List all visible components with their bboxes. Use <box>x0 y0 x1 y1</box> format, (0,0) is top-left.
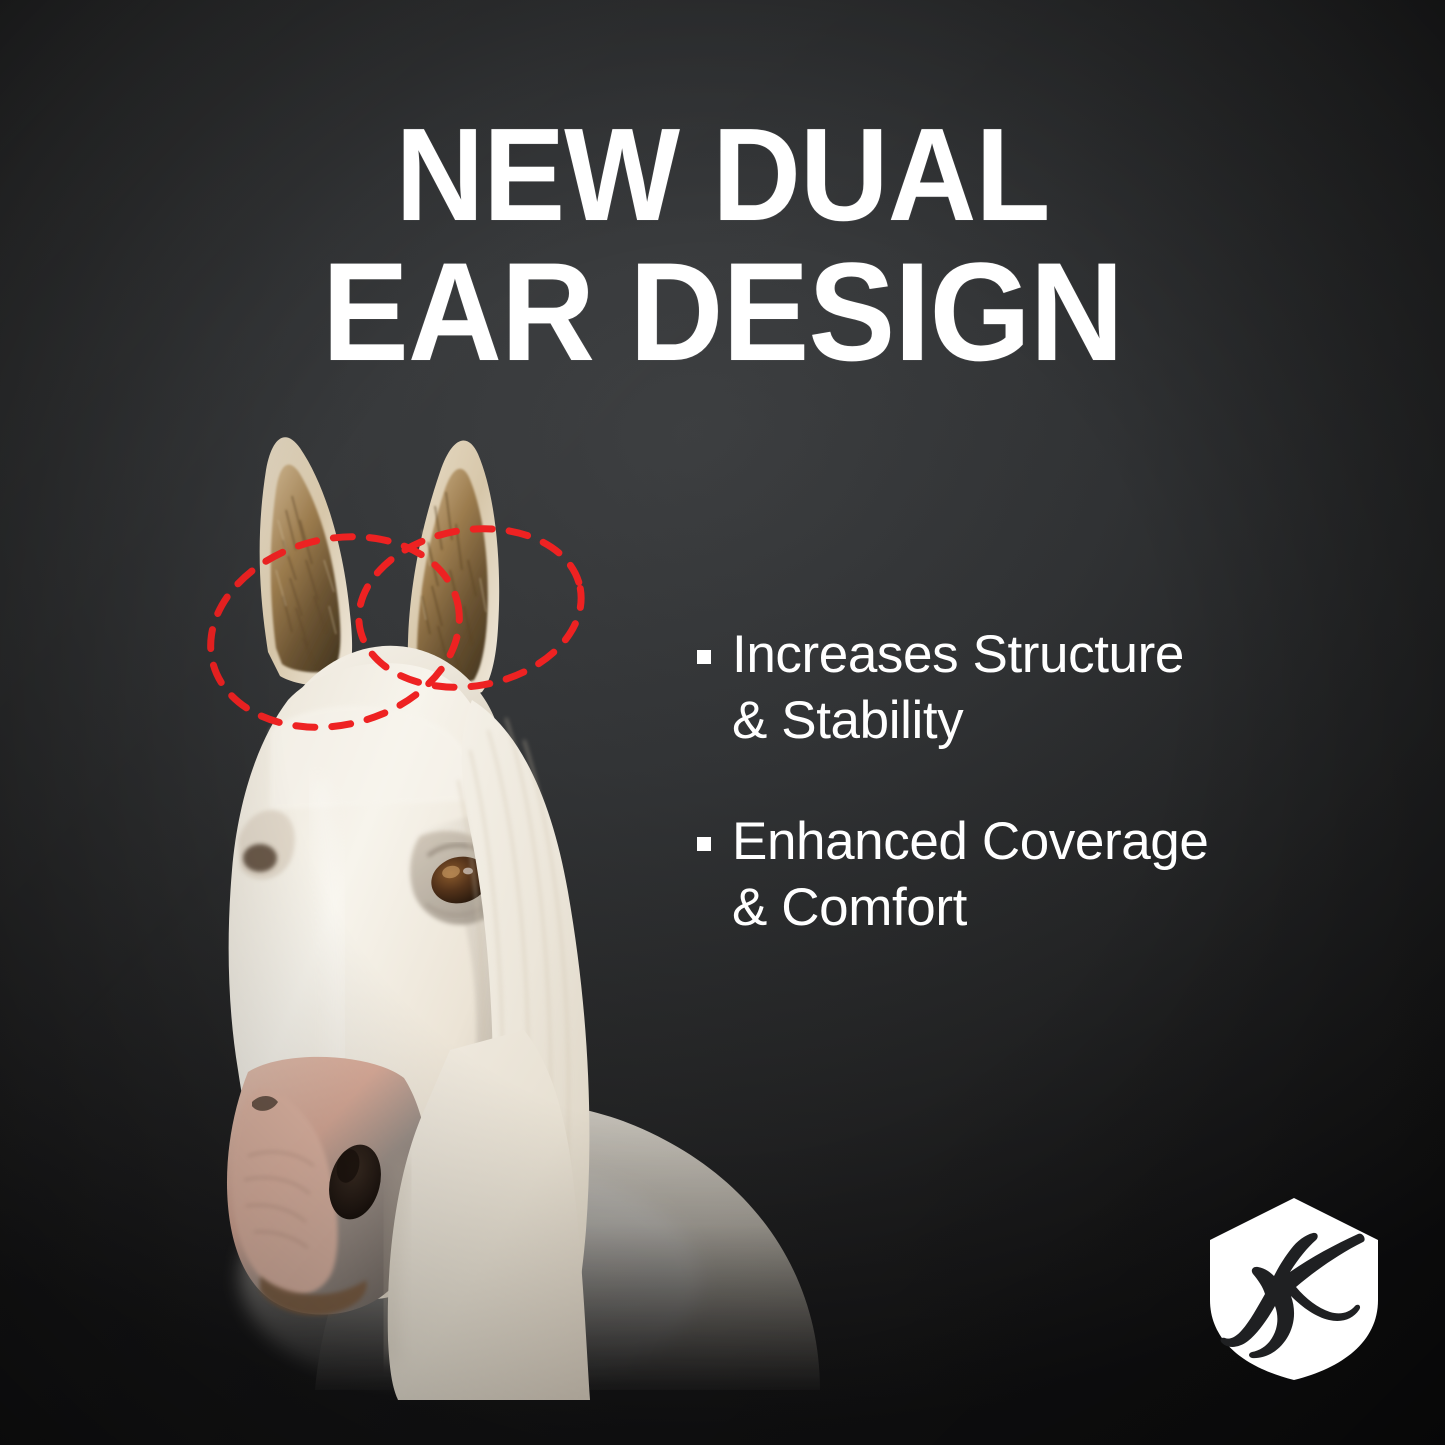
brand-logo <box>1206 1196 1382 1382</box>
bullet-label-1: Increases Structure & Stability <box>732 622 1184 753</box>
list-item: Enhanced Coverage & Comfort <box>697 809 1357 940</box>
page-title: NEW DUAL EAR DESIGN <box>51 112 1395 379</box>
bullet-label-2: Enhanced Coverage & Comfort <box>732 809 1208 940</box>
ad-creative: NEW DUAL EAR DESIGN Increases Structure … <box>0 0 1445 1445</box>
square-bullet-icon <box>697 837 711 851</box>
feature-bullet-list: Increases Structure & Stability Enhanced… <box>697 622 1357 997</box>
headline-line-2: EAR DESIGN <box>51 245 1395 379</box>
headline-line-1: NEW DUAL <box>51 112 1395 239</box>
square-bullet-icon <box>697 650 711 664</box>
list-item: Increases Structure & Stability <box>697 622 1357 753</box>
